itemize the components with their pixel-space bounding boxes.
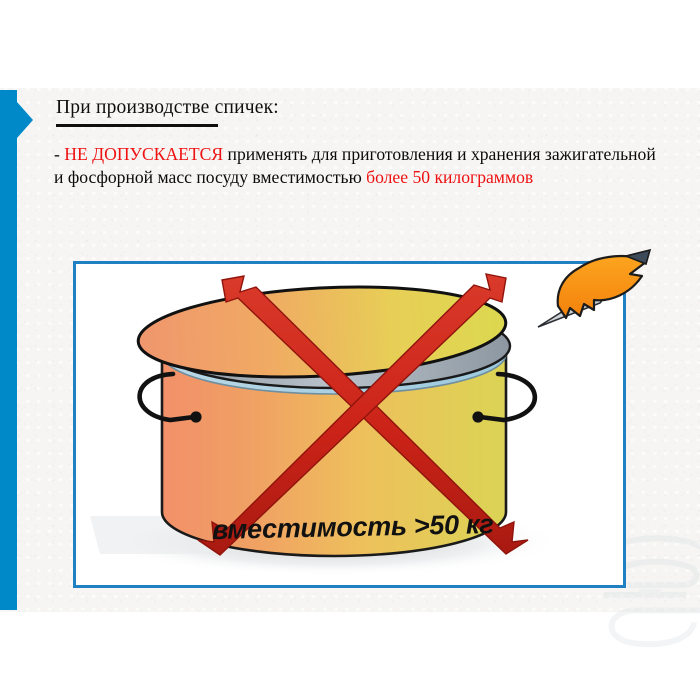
illustration-frame: вместимость >50 кг — [73, 261, 626, 588]
pot-capacity-caption: вместимость >50 кг — [212, 509, 494, 546]
body-highlight-capacity: более 50 килограммов — [366, 167, 533, 187]
page-title: При производстве спичек: — [56, 97, 279, 119]
slide-canvas-root: При производстве спичек: - НЕ ДОПУСКАЕТС… — [0, 0, 700, 700]
body-paragraph: - НЕ ДОПУСКАЕТСЯ применять для приготовл… — [54, 143, 668, 188]
cooking-pot-illustration — [70, 254, 650, 599]
gloved-hand-with-stick — [538, 250, 650, 327]
illustration-stage: вместимость >50 кг — [76, 264, 623, 585]
body-highlight-prohibited: НЕ ДОПУСКАЕТСЯ — [64, 144, 223, 164]
body-dash: - — [54, 144, 64, 164]
title-underline — [56, 124, 218, 127]
arrow-accent-bar — [0, 90, 36, 610]
